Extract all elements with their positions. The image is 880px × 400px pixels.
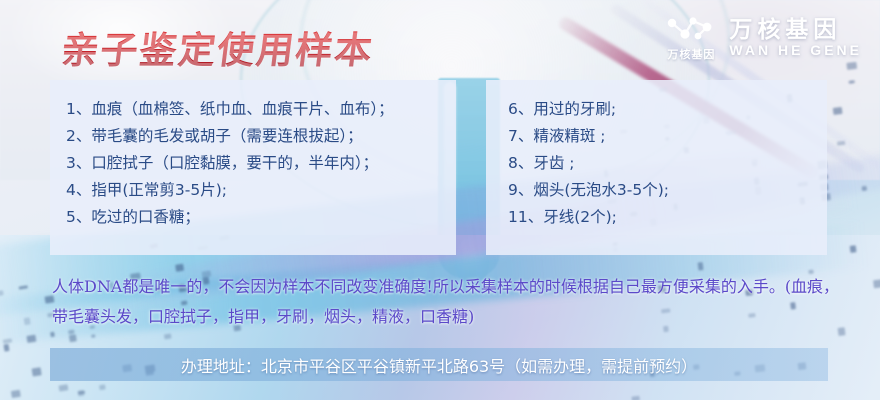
- list-item: 2、带毛囊的毛发或胡子（需要连根拔起）；: [50, 123, 456, 150]
- brand-mark: 万核基因: [665, 14, 717, 62]
- gel-band: [19, 285, 28, 289]
- address-bar-text: 办理地址：北京市平谷区平谷镇新平北路63号（如需办理，需提前预约）: [181, 353, 697, 377]
- gel-band: [849, 80, 855, 84]
- sample-list-right: 6、用过的牙刷;7、精液精斑 ;8、牙齿 ;9、烟头(无泡水3-5个);11、牙…: [486, 96, 827, 231]
- list-item: 9、烟头(无泡水3-5个);: [486, 177, 827, 204]
- list-item: 8、牙齿 ;: [486, 150, 827, 177]
- dna-note-text: 人体DNA都是唯一的，不会因为样本不同改变准确度!所以采集样本的时候根据自己最方…: [52, 272, 842, 332]
- gel-band: [837, 141, 845, 146]
- gel-band: [24, 317, 31, 326]
- gel-band: [69, 334, 77, 342]
- brand-logo: 万核基因 万核基因 WAN HE GENE: [665, 14, 862, 62]
- gel-band: [11, 389, 21, 397]
- list-item: 7、精液精斑 ;: [486, 123, 827, 150]
- address-bar: 办理地址：北京市平谷区平谷镇新平北路63号（如需办理，需提前预约）: [50, 348, 828, 381]
- list-item: 4、指甲(正常剪3-5片);: [50, 177, 456, 204]
- gel-band: [32, 367, 42, 376]
- gel-band: [833, 107, 843, 115]
- page-title: 亲子鉴定使用样本: [59, 20, 378, 74]
- gel-band: [99, 384, 105, 390]
- gel-band: [91, 334, 96, 338]
- gel-band: [4, 344, 10, 351]
- gel-band: [51, 332, 56, 337]
- gel-band: [850, 245, 857, 253]
- list-item: 3、口腔拭子（口腔黏膜，要干的，半年内）；: [50, 150, 456, 177]
- list-item: 5、吃过的口香糖；: [50, 204, 456, 231]
- gel-band: [77, 390, 84, 397]
- gel-band: [847, 62, 857, 70]
- gel-band: [164, 333, 172, 339]
- molecule-node-icon: [665, 14, 717, 44]
- gel-band: [0, 290, 4, 296]
- gel-band: [698, 262, 704, 270]
- gel-band: [59, 384, 68, 391]
- gel-band: [631, 395, 640, 400]
- brand-name-en: WAN HE GENE: [729, 43, 862, 59]
- brand-wordmark: 万核基因 WAN HE GENE: [729, 17, 862, 58]
- brand-name-cn: 万核基因: [729, 17, 841, 43]
- list-item: 1、血痕（血棉签、纸巾血、血痕干片、血布）；: [50, 96, 456, 123]
- sample-list-panel-left: 1、血痕（血棉签、纸巾血、血痕干片、血布）；2、带毛囊的毛发或胡子（需要连根拔起…: [50, 80, 456, 255]
- list-item: 6、用过的牙刷;: [486, 96, 827, 123]
- gel-band: [874, 280, 880, 288]
- gel-band: [862, 185, 867, 191]
- sample-list-left: 1、血痕（血棉签、纸巾血、血痕干片、血布）；2、带毛囊的毛发或胡子（需要连根拔起…: [50, 96, 456, 231]
- gel-band: [27, 334, 37, 343]
- sample-list-panel-right: 6、用过的牙刷;7、精液精斑 ;8、牙齿 ;9、烟头(无泡水3-5个);11、牙…: [486, 80, 827, 255]
- poster-canvas: 亲子鉴定使用样本: [0, 0, 880, 400]
- brand-mark-label: 万核基因: [667, 46, 715, 62]
- list-item: 11、牙线(2个);: [486, 204, 827, 231]
